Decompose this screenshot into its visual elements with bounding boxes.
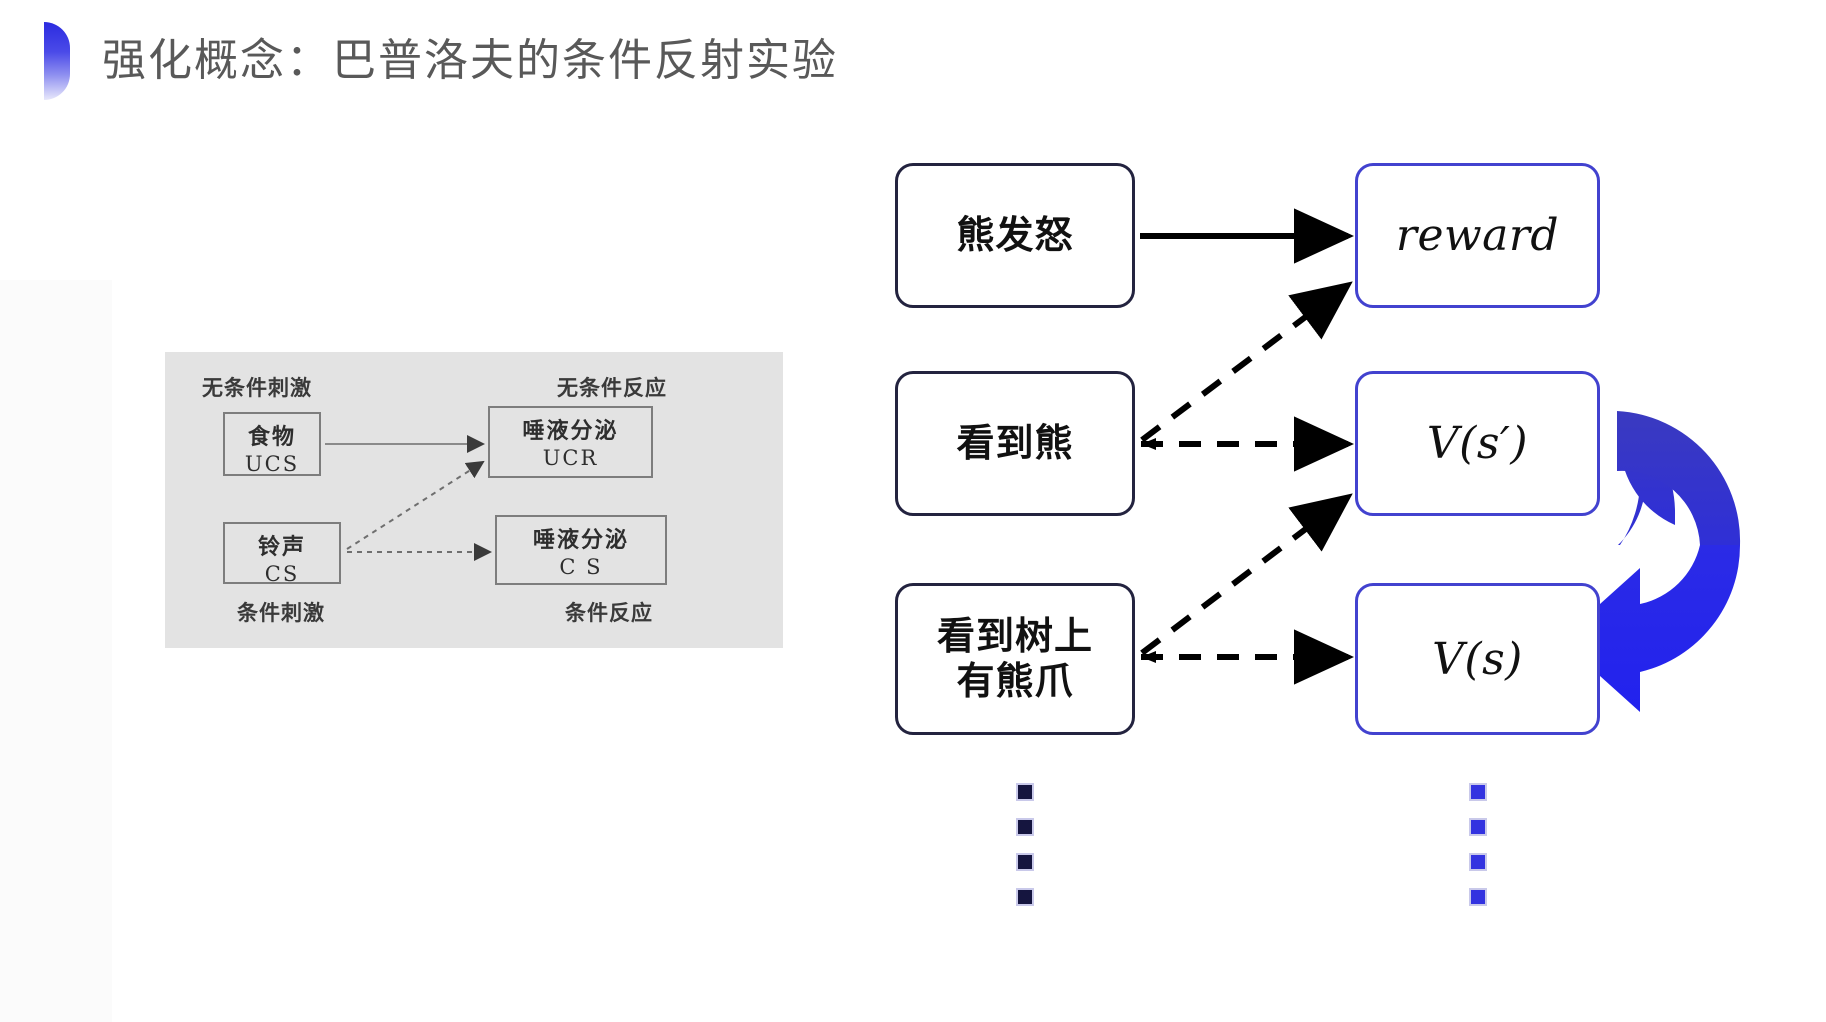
ellipsis-square — [1016, 818, 1034, 836]
ellipsis-square — [1016, 888, 1034, 906]
ellipsis-square — [1469, 853, 1487, 871]
ellipsis-square — [1016, 783, 1034, 801]
rl-value-flow-diagram: 熊发怒 看到熊 看到树上 有熊爪 reward V(s′) V(s) — [0, 0, 1826, 1022]
ellipsis-square — [1469, 783, 1487, 801]
node-reward-label: reward — [1396, 210, 1559, 261]
slide-canvas: 强化概念：巴普洛夫的条件反射实验 无条件刺激 无条件反应 条件刺激 条件反应 食… — [0, 0, 1826, 1022]
node-reward[interactable]: reward — [1355, 163, 1600, 308]
node-bear-angry-label: 熊发怒 — [956, 213, 1073, 258]
edge-see-claw-back-arrowhead — [1141, 651, 1156, 663]
node-see-claw[interactable]: 看到树上 有熊爪 — [895, 583, 1135, 735]
node-see-claw-line1: 看到树上 — [937, 614, 1093, 658]
node-see-bear[interactable]: 看到熊 — [895, 371, 1135, 516]
ellipsis-square — [1469, 888, 1487, 906]
ellipsis-square — [1016, 853, 1034, 871]
node-v-s-prime-label: V(s′) — [1427, 418, 1528, 469]
ellipsis-left-column — [1016, 783, 1034, 906]
edge-see-bear-to-reward — [1142, 285, 1348, 440]
node-v-s-prime[interactable]: V(s′) — [1355, 371, 1600, 516]
node-see-bear-label: 看到熊 — [956, 421, 1073, 466]
edge-see-bear-back-arrowhead — [1141, 438, 1156, 450]
node-see-claw-label: 看到树上 有熊爪 — [937, 614, 1093, 704]
ellipsis-right-column — [1469, 783, 1487, 906]
node-bear-angry[interactable]: 熊发怒 — [895, 163, 1135, 308]
node-v-s-label: V(s) — [1432, 634, 1523, 685]
node-see-claw-line2: 有熊爪 — [956, 659, 1073, 703]
node-v-s[interactable]: V(s) — [1355, 583, 1600, 735]
edge-see-claw-to-vsprime — [1142, 497, 1348, 653]
ellipsis-square — [1469, 818, 1487, 836]
